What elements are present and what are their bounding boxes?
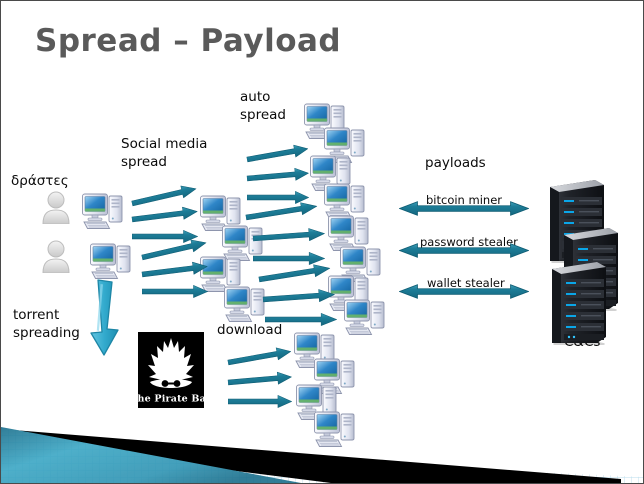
user-silhouette-icon [41, 239, 71, 273]
arrow-right-icon [265, 313, 337, 326]
label-social-media-spread-line2: spread [121, 154, 167, 170]
desktop-computer-icon [223, 284, 267, 324]
server-rack-icon [549, 259, 607, 345]
arrow-down-icon [85, 279, 129, 357]
arrow-right-icon [131, 205, 198, 226]
page-title: Spread – Payload [35, 23, 341, 59]
label-torrent-spreading-line2: spreading [13, 325, 80, 341]
desktop-computer-icon [81, 191, 125, 231]
slide-footer-decoration [1, 407, 643, 483]
arrow-right-icon [246, 167, 309, 185]
slide-canvas: Spread – Payload δράστες Social media sp… [0, 0, 644, 484]
label-payloads: payloads [425, 155, 486, 171]
pirate-bay-caption: The Pirate Bay [138, 394, 204, 405]
arrow-right-icon [142, 285, 208, 298]
label-auto-spread-line1: auto [240, 89, 270, 105]
arrow-right-icon [246, 142, 309, 166]
label-actors: δράστες [11, 173, 69, 189]
arrow-left-right-icon [399, 284, 529, 299]
arrow-left-right-icon [399, 243, 529, 258]
arrow-right-icon [227, 370, 292, 389]
arrow-right-icon [263, 288, 336, 306]
desktop-computer-icon [89, 241, 133, 281]
desktop-computer-icon [343, 297, 387, 337]
arrow-right-icon [227, 345, 292, 369]
arrow-left-right-icon [399, 201, 529, 216]
label-auto-spread-line2: spread [240, 107, 286, 123]
pirate-bay-logo-icon: The Pirate Bay [138, 332, 204, 408]
label-social-media-spread-line1: Social media [121, 136, 207, 152]
label-torrent-spreading-line1: torrent [13, 307, 59, 323]
user-silhouette-icon [41, 190, 71, 224]
arrow-right-icon [258, 262, 331, 286]
